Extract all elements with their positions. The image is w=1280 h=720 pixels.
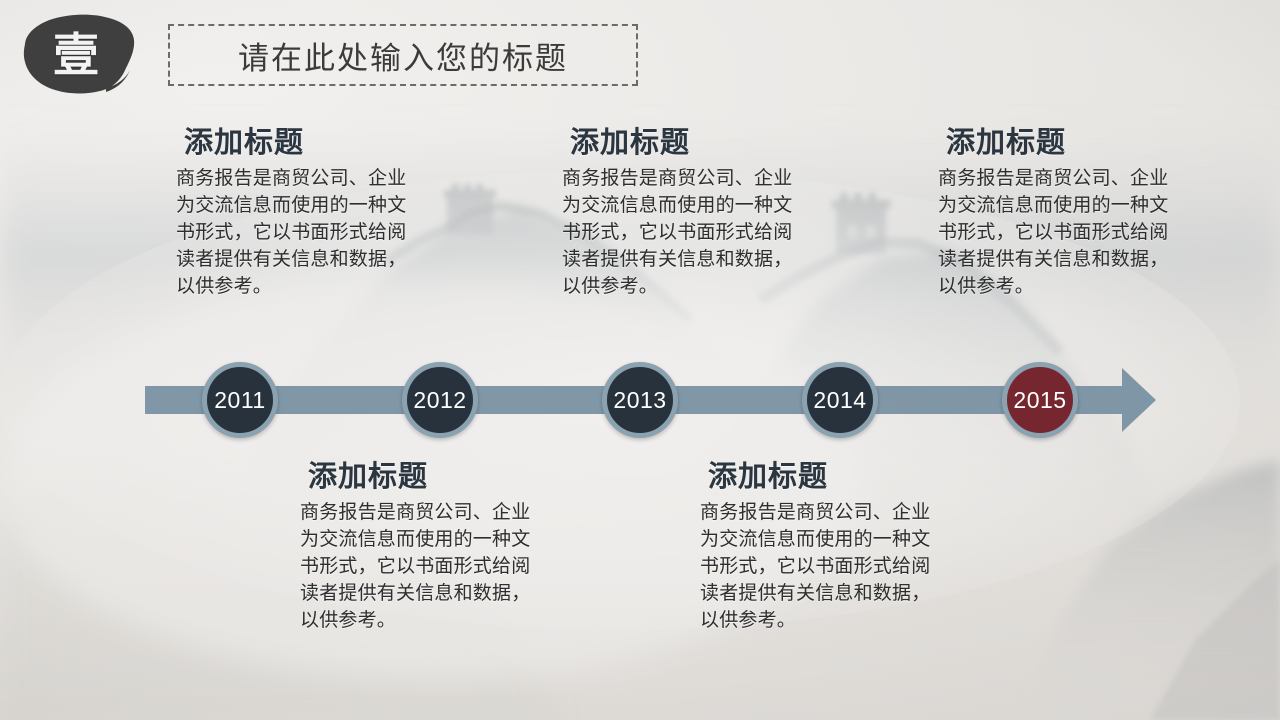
- timeline-node-label-2011: 2011: [214, 387, 265, 414]
- slide-canvas: 壹 请在此处输入您的标题 添加标题 商务报告是商贸公司、企业为交流信息而使用的一…: [0, 0, 1280, 720]
- timeline: 2011 2012 2013 2014 2015: [0, 0, 1280, 720]
- timeline-arrow: [0, 0, 1280, 720]
- timeline-node-label-2012: 2012: [413, 387, 466, 414]
- timeline-node-label-2014: 2014: [813, 387, 866, 414]
- timeline-node-2013[interactable]: 2013: [602, 362, 678, 438]
- timeline-node-2012[interactable]: 2012: [402, 362, 478, 438]
- timeline-node-label-2013: 2013: [613, 387, 666, 414]
- timeline-node-2015[interactable]: 2015: [1002, 362, 1078, 438]
- timeline-node-2014[interactable]: 2014: [802, 362, 878, 438]
- timeline-node-2011[interactable]: 2011: [202, 362, 278, 438]
- timeline-node-label-2015: 2015: [1013, 387, 1066, 414]
